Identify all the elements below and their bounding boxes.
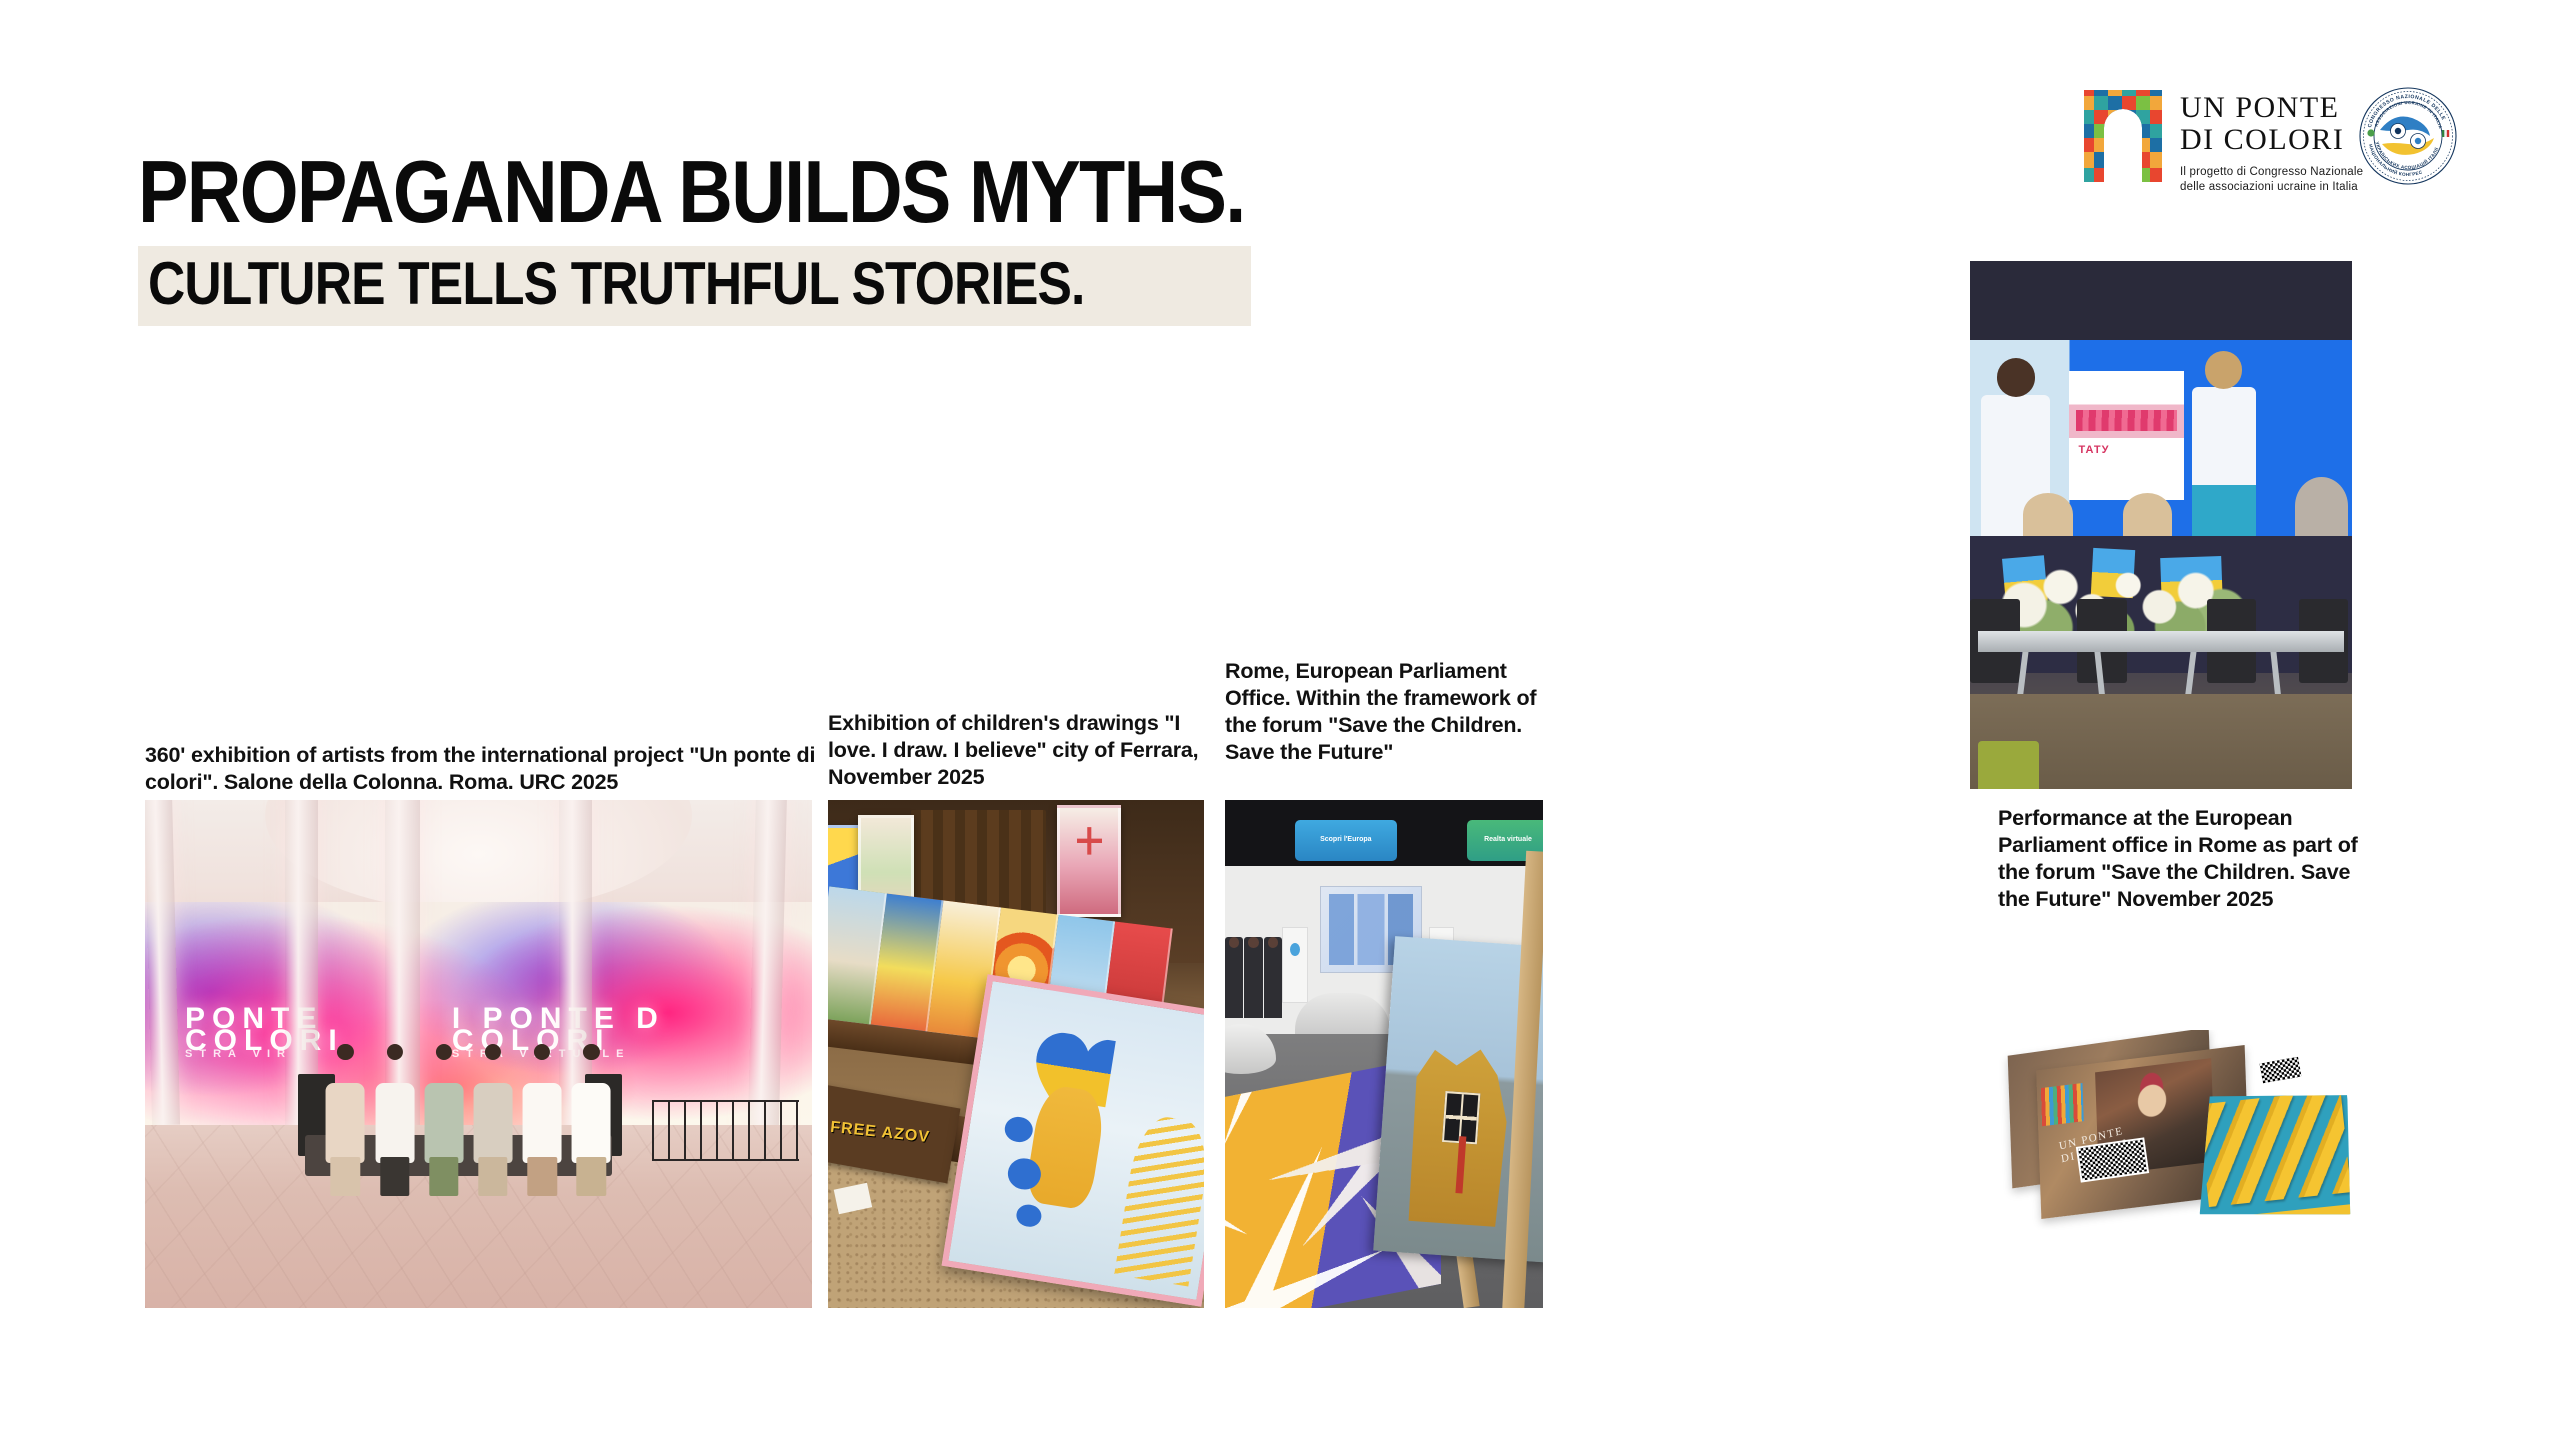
- overhead-sign-scopri-europa: Scopri l'Europa: [1295, 820, 1397, 861]
- caption-360-exhibition: 360' exhibition of artists from the inte…: [145, 742, 825, 796]
- info-kiosk: [1282, 927, 1307, 1003]
- wheat-ears-motif: [1114, 1113, 1204, 1287]
- group-of-attendees: [322, 1044, 615, 1196]
- exhibition-hall-scene: PONTE COLORI I PONTE D COLORI STRA VIR S…: [145, 800, 812, 1308]
- projection-subtitle-left: STRA VIR: [185, 1048, 292, 1060]
- visitors-group: [1225, 937, 1282, 1018]
- cornflower-motif: [1015, 1203, 1043, 1229]
- photo-children-drawings: FREE AZOV: [828, 800, 1204, 1308]
- canvas-cyrillic-text: ТАТУ: [2078, 444, 2174, 478]
- brand-wordmark: UN PONTE DI COLORI Il progetto di Congre…: [2180, 82, 2363, 196]
- brand-subtitle-line2: delle associazioni ucraine in Italia: [2180, 180, 2363, 196]
- child-head: [2023, 493, 2073, 536]
- congress-seal-icon: CONGRESSO NAZIONALE DELLE ASSOCIAZIONI U…: [2358, 86, 2458, 186]
- conference-table: [1978, 631, 2345, 652]
- child-drawing: [1057, 805, 1121, 917]
- performance-hall-scene: ТАТУ: [1970, 261, 2352, 789]
- photo-360-exhibition: PONTE COLORI I PONTE D COLORI STRA VIR S…: [145, 800, 812, 1308]
- person-figure: [420, 1044, 467, 1196]
- praying-hands-motif: [1024, 1083, 1107, 1210]
- photo-european-parliament-office: Scopri l'Europa Realta virtuale: [1225, 800, 1543, 1308]
- person-figure: [519, 1044, 566, 1196]
- headline-highlight-band: CULTURE TELLS TRUTHFUL STORIES.: [138, 246, 1251, 326]
- green-chair: [1978, 741, 2039, 789]
- parliament-office-scene: Scopri l'Europa Realta virtuale: [1225, 800, 1543, 1308]
- performer-figure: [2192, 387, 2257, 535]
- painted-canvas-on-screen: ТАТУ: [2069, 371, 2184, 500]
- person-figure: [469, 1044, 516, 1196]
- child-head: [2123, 493, 2173, 536]
- caption-european-parliament-office: Rome, European Parliament Office. Within…: [1225, 658, 1555, 766]
- large-projection-screen: ТАТУ: [1970, 340, 2352, 535]
- brochures-scene: UN PONTE DI COLORI: [1995, 1030, 2357, 1230]
- slide-root: UN PONTE DI COLORI Il progetto di Congre…: [0, 0, 2560, 1440]
- person-figure: [568, 1044, 615, 1196]
- hall-dark-wall: [1970, 261, 2352, 345]
- ferrara-exhibition-scene: FREE AZOV: [828, 800, 1204, 1308]
- person-figure: [322, 1044, 369, 1196]
- un-ponte-di-colori-logo-icon: [2080, 82, 2166, 182]
- brand-name-line2: DI COLORI: [2180, 124, 2363, 156]
- brand-lockup: UN PONTE DI COLORI Il progetto di Congre…: [2080, 82, 2363, 196]
- headline-block: PROPAGANDA BUILDS MYTHS. CULTURE TELLS T…: [138, 148, 1558, 326]
- colorful-stripes-motif: [2041, 1083, 2084, 1127]
- hall-railing: [652, 1100, 799, 1161]
- audience-head: [2295, 477, 2348, 536]
- photo-brochures-tactile-model: UN PONTE DI COLORI: [1995, 1030, 2357, 1230]
- free-azov-placard-text: FREE AZOV: [830, 1119, 931, 1147]
- caption-children-drawings: Exhibition of children's drawings "I lov…: [828, 710, 1208, 791]
- qr-code-icon: [2257, 1054, 2304, 1085]
- person-figure: [371, 1044, 418, 1196]
- headline-line-1: PROPAGANDA BUILDS MYTHS.: [138, 148, 1359, 236]
- brand-subtitle-line1: Il progetto di Congresso Nazionale: [2180, 165, 2363, 181]
- photo-performance-screen: ТАТУ: [1970, 261, 2352, 789]
- brand-name-line1: UN PONTE: [2180, 92, 2363, 124]
- foreground-child-drawing: [942, 974, 1204, 1306]
- cornflower-motif: [1003, 1115, 1034, 1144]
- caption-performance-screen: Performance at the European Parliament o…: [1998, 805, 2378, 913]
- tactile-relief-model: [2188, 1082, 2357, 1230]
- headline-line-2: CULTURE TELLS TRUTHFUL STORIES.: [148, 254, 1085, 314]
